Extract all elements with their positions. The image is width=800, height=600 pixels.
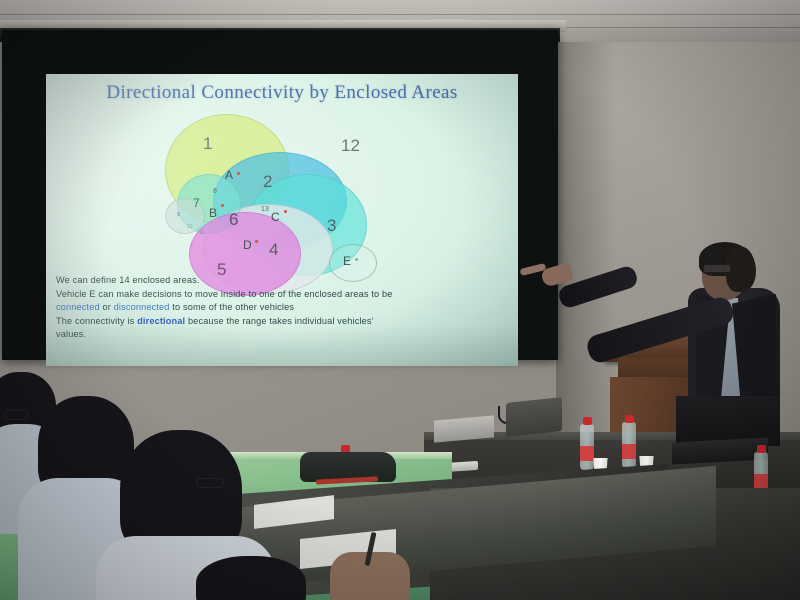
wall-shadow [556,36,616,456]
slide-text-segment: or [100,302,114,312]
slide-text-segment: because the range takes individual vehic… [185,316,374,326]
slide-text-disconnected: disconnected [114,302,170,312]
venn-node-d-dot [255,240,258,243]
venn-diagram: 1 2 3 4 5 6 7 8 9 10 11 12 13 A B C D [151,112,391,292]
slide-text-connected: connected [56,302,100,312]
slide-text-segment: We can define 14 enclosed areas. [56,275,200,285]
venn-label-12: 12 [341,136,360,156]
slide-text-segment: to some of the other vehicles [170,302,295,312]
venn-label-2: 2 [263,172,272,192]
water-bottle [622,422,636,468]
audience-glasses-icon [4,410,28,420]
slide-body-line-4: The connectivity is directional because … [56,315,512,329]
venn-node-b: B [209,206,217,220]
slide-body-line-3: connected or disconnected to some of the… [56,301,512,315]
slide-title: Directional Connectivity by Enclosed Are… [46,82,518,104]
venn-node-a-dot [237,172,240,175]
venn-node-e: E [343,254,351,268]
venn-label-1: 1 [203,134,212,154]
presenter-glasses-icon [703,264,731,273]
venn-label-6: 6 [229,210,238,230]
venn-node-a: A [225,168,233,182]
audience-glasses-icon [196,478,224,488]
presentation-slide: Directional Connectivity by Enclosed Are… [46,74,518,366]
venn-node-b-dot [221,204,224,207]
slide-body-line-5: values. [56,328,512,342]
venn-label-11: 11 [199,230,204,236]
slide-text-segment: values. [56,329,86,339]
water-bottle [580,424,594,470]
venn-label-9: 9 [177,212,180,218]
slide-body-text: We can define 14 enclosed areas. Vehicle… [56,274,512,342]
venn-label-4: 4 [269,240,278,260]
venn-label-3: 3 [327,216,336,236]
projector-screen: Directional Connectivity by Enclosed Are… [2,30,558,360]
conference-room-photo: Directional Connectivity by Enclosed Are… [0,0,800,600]
venn-label-13: 13 [261,206,269,213]
venn-label-7: 7 [193,196,200,210]
venn-node-c-dot [284,210,287,213]
venn-node-e-dot [355,258,358,261]
slide-text-directional: directional [137,316,185,326]
projector-device [506,397,562,437]
slide-text-segment: Vehicle E can make decisions to move ins… [56,289,393,299]
venn-label-10: 10 [187,224,193,230]
slide-text-segment: The connectivity is [56,316,137,326]
venn-node-d: D [243,238,252,252]
venn-label-8: 8 [213,188,217,195]
slide-body-line-2: Vehicle E can make decisions to move ins… [56,288,512,302]
slide-body-line-1: We can define 14 enclosed areas. [56,274,512,288]
audience-member [196,556,306,600]
venn-node-c: C [271,210,280,224]
